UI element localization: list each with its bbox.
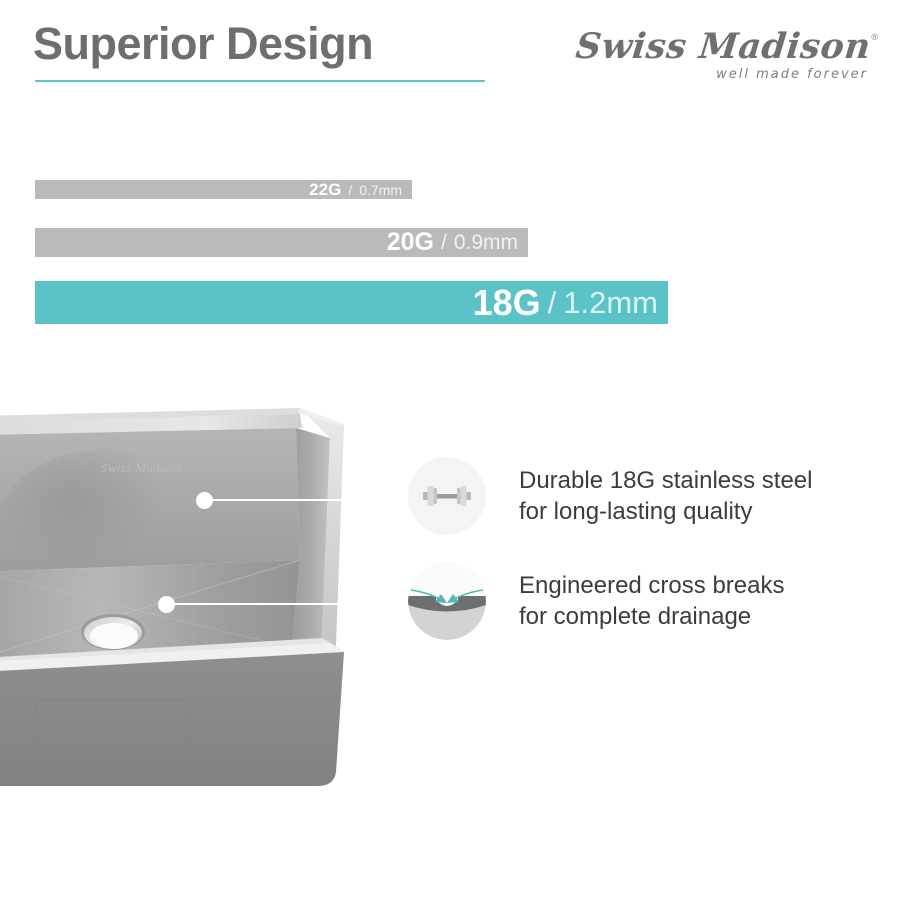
product-image-sink: Swiss Madison (0, 400, 380, 800)
gauge-bar-18g-thickness: 1.2mm (563, 285, 658, 321)
gauge-bar-20g-separator: / (441, 231, 447, 255)
gauge-bar-22g: 22G / 0.7mm (35, 180, 412, 199)
feature-drainage-line1: Engineered cross breaks (519, 570, 784, 601)
feature-item-drainage: Engineered cross breaks for complete dra… (408, 562, 784, 640)
gauge-bar-18g-separator: / (548, 285, 557, 321)
feature-item-durability-text: Durable 18G stainless steel for long-las… (519, 465, 812, 527)
gauge-bar-20g-label: 20G (387, 228, 434, 257)
sink-drain-opening (90, 623, 138, 649)
cross-break-drainage-icon (408, 562, 486, 640)
gauge-bar-22g-separator: / (348, 182, 352, 198)
callout-line-1 (210, 499, 405, 501)
dumbbell-icon (408, 457, 486, 535)
feature-item-durability: Durable 18G stainless steel for long-las… (408, 457, 812, 535)
gauge-bar-20g-thickness: 0.9mm (454, 231, 518, 255)
gauge-bar-22g-thickness: 0.7mm (359, 182, 402, 198)
gauge-bar-20g: 20G / 0.9mm (35, 228, 528, 257)
feature-durability-line1: Durable 18G stainless steel (519, 465, 812, 496)
feature-item-drainage-text: Engineered cross breaks for complete dra… (519, 570, 784, 632)
feature-durability-line2: for long-lasting quality (519, 496, 812, 527)
gauge-bar-18g: 18G / 1.2mm (35, 281, 668, 324)
sink-illustration: Swiss Madison (0, 400, 380, 800)
infographic-stage: Superior Design Swiss Madison ® well mad… (0, 0, 900, 900)
sink-embossed-brand-mark: Swiss Madison (100, 462, 183, 475)
callout-line-2 (172, 603, 405, 605)
sink-front-face (0, 652, 344, 786)
gauge-bar-22g-label: 22G (309, 180, 341, 200)
feature-drainage-line2: for complete drainage (519, 601, 784, 632)
gauge-comparison-chart: 22G / 0.7mm 20G / 0.9mm 18G / 1.2mm (0, 0, 900, 380)
gauge-bar-18g-label: 18G (473, 282, 541, 324)
